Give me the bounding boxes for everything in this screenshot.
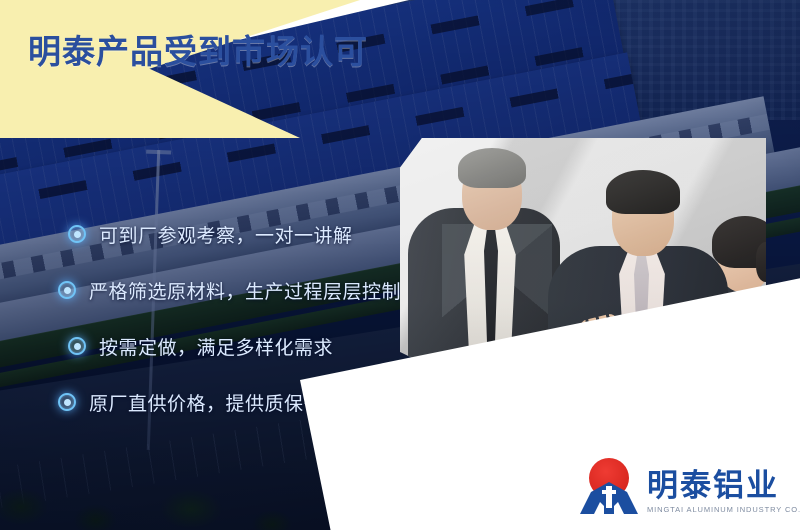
logo-name-en: MINGTAI ALUMINUM INDUSTRY CO., LTD (647, 505, 800, 514)
target-circle-icon (68, 337, 86, 355)
target-circle-icon (68, 225, 86, 243)
logo-wordmark: 明泰铝业 MINGTAI ALUMINUM INDUSTRY CO., LTD (647, 470, 800, 514)
list-item-label: 严格筛选原材料，生产过程层层控制 (89, 277, 401, 304)
logo-mountain-shape (580, 480, 638, 514)
target-circle-icon (58, 281, 76, 299)
list-item: 可到厂参观考察，一对一讲解 (68, 206, 398, 262)
mingtai-sun-mountain-logo-icon (580, 458, 638, 516)
logo-name-cn: 明泰铝业 (647, 470, 800, 501)
list-item-label: 原厂直供价格，提供质保书 (89, 389, 323, 416)
list-item: 按需定做，满足多样化需求 (68, 318, 398, 374)
list-item: 严格筛选原材料，生产过程层层控制 (58, 262, 398, 318)
page-title: 明泰产品受到市场认可 (28, 25, 368, 73)
list-item-label: 可到厂参观考察，一对一讲解 (99, 221, 353, 248)
promo-banner: 明泰产品受到市场认可 可到厂参观考察，一对一讲解 严格筛选原材料，生产过程层层控… (0, 0, 800, 530)
target-circle-icon (58, 393, 76, 411)
list-item-label: 按需定做，满足多样化需求 (99, 333, 333, 360)
company-logo: 明泰铝业 MINGTAI ALUMINUM INDUSTRY CO., LTD (580, 458, 800, 516)
